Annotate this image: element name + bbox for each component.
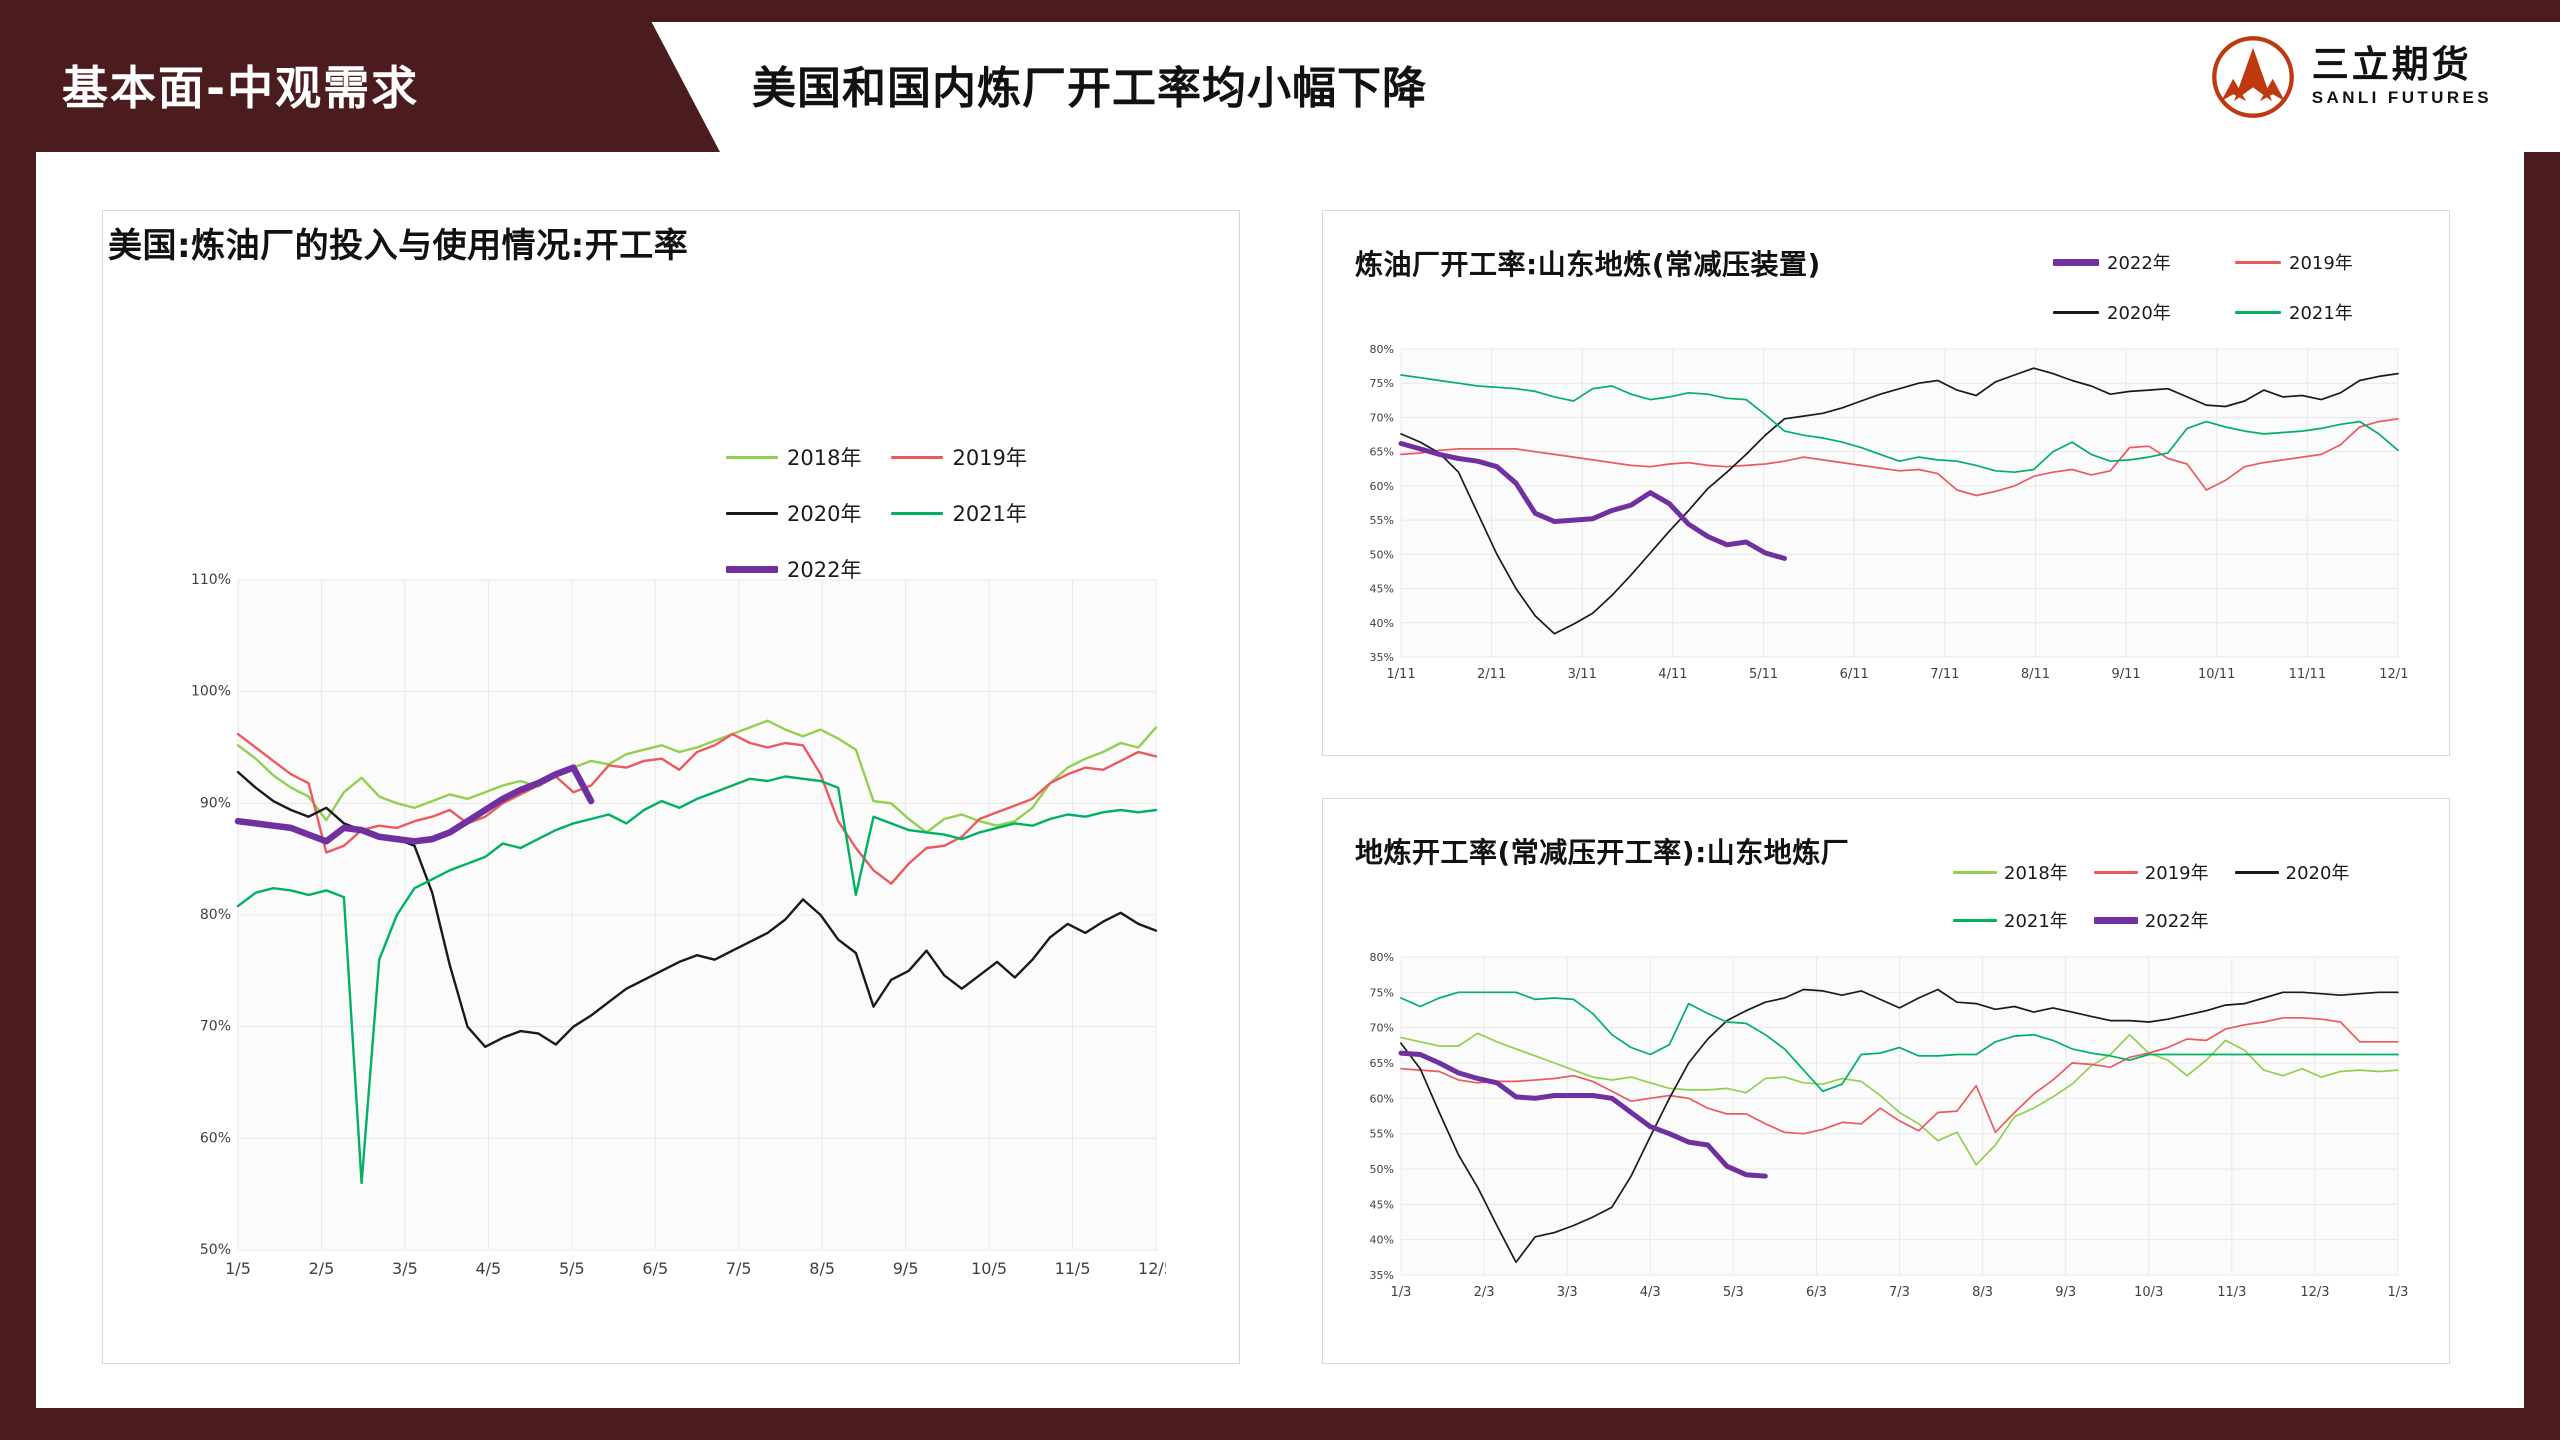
y-axis-tick-label: 45% (1370, 583, 1394, 596)
legend-item-2021年[interactable]: 2021年 (1953, 907, 2068, 933)
chart-svg-left: 50%60%70%80%90%100%110%1/52/53/54/55/56/… (176, 572, 1166, 1302)
y-axis-tick-label: 35% (1370, 651, 1394, 664)
y-axis-tick-label: 75% (1370, 986, 1394, 999)
x-axis-tick-label: 1/3 (2388, 1285, 2408, 1300)
y-axis-tick-label: 55% (1370, 1128, 1394, 1141)
x-axis-tick-label: 5/5 (559, 1259, 585, 1278)
chart-plot-bottom-right: 35%40%45%50%55%60%65%70%75%80%1/32/33/34… (1353, 949, 2408, 1319)
legend-swatch-icon (2053, 311, 2099, 314)
y-axis-tick-label: 50% (200, 1242, 231, 1258)
x-axis-tick-label: 11/3 (2217, 1285, 2246, 1300)
x-axis-tick-label: 4/3 (1640, 1285, 1661, 1300)
x-axis-tick-label: 5/3 (1723, 1285, 1744, 1300)
brand-name-cn: 三立期货 (2312, 46, 2492, 85)
legend-label: 2021年 (2289, 299, 2353, 325)
x-axis-tick-label: 12/3 (2300, 1285, 2329, 1300)
chart-legend-top-right: 2022年2019年2020年2021年 (2053, 249, 2423, 349)
x-axis-tick-label: 11/11 (2289, 667, 2326, 682)
chart-legend-bottom-right: 2018年2019年2020年2021年2022年 (1953, 859, 2433, 955)
section-tag: 基本面-中观需求 (62, 52, 419, 118)
y-axis-tick-label: 60% (200, 1130, 231, 1146)
chart-title-left: 美国:炼油厂的投入与使用情况:开工率 (108, 218, 688, 267)
x-axis-tick-label: 2/11 (1477, 667, 1506, 682)
legend-swatch-icon (726, 512, 778, 515)
legend-label: 2019年 (2289, 249, 2353, 275)
legend-label: 2020年 (2286, 859, 2350, 885)
legend-swatch-icon (1953, 871, 1997, 874)
x-axis-tick-label: 12/5 (1138, 1259, 1166, 1278)
legend-label: 2020年 (2107, 299, 2171, 325)
y-axis-tick-label: 80% (1370, 951, 1394, 964)
x-axis-tick-label: 8/3 (1972, 1285, 1993, 1300)
x-axis-tick-label: 10/3 (2134, 1285, 2163, 1300)
chart-plot-top-right: 35%40%45%50%55%60%65%70%75%80%1/112/113/… (1353, 341, 2408, 701)
x-axis-tick-label: 3/5 (392, 1259, 418, 1278)
x-axis-tick-label: 9/3 (2055, 1285, 2076, 1300)
x-axis-tick-label: 6/11 (1840, 667, 1869, 682)
legend-item-2022年[interactable]: 2022年 (2053, 249, 2235, 275)
y-axis-tick-label: 50% (1370, 1163, 1394, 1176)
legend-swatch-icon (2053, 259, 2099, 266)
legend-item-2020年[interactable]: 2020年 (726, 498, 861, 528)
legend-item-2021年[interactable]: 2021年 (2235, 299, 2417, 325)
x-axis-tick-label: 3/3 (1557, 1285, 1578, 1300)
x-axis-tick-label: 4/11 (1658, 667, 1687, 682)
x-axis-tick-label: 10/11 (2198, 667, 2235, 682)
x-axis-tick-label: 6/3 (1806, 1285, 1827, 1300)
y-axis-tick-label: 55% (1370, 514, 1394, 527)
legend-label: 2021年 (952, 498, 1026, 528)
legend-item-2022年[interactable]: 2022年 (2094, 907, 2209, 933)
chart-title-bottom-right: 地炼开工率(常减压开工率):山东地炼厂 (1355, 831, 1849, 871)
y-axis-tick-label: 70% (1370, 1022, 1394, 1035)
legend-item-2018年[interactable]: 2018年 (726, 442, 861, 472)
legend-swatch-icon (2235, 261, 2281, 264)
legend-item-2020年[interactable]: 2020年 (2053, 299, 2235, 325)
chart-panel-top-right: 炼油厂开工率:山东地炼(常减压装置) 2022年2019年2020年2021年 … (1322, 210, 2450, 756)
x-axis-tick-label: 8/11 (2021, 667, 2050, 682)
x-axis-tick-label: 12/11 (2379, 667, 2408, 682)
y-axis-tick-label: 65% (1370, 446, 1394, 459)
x-axis-tick-label: 2/3 (1474, 1285, 1495, 1300)
x-axis-tick-label: 6/5 (642, 1259, 668, 1278)
legend-label: 2019年 (952, 442, 1026, 472)
page-title: 美国和国内炼厂开工率均小幅下降 (752, 52, 1427, 116)
y-axis-tick-label: 50% (1370, 548, 1394, 561)
y-axis-tick-label: 75% (1370, 377, 1394, 390)
legend-item-2021年[interactable]: 2021年 (891, 498, 1026, 528)
chart-svg-bottom_right: 35%40%45%50%55%60%65%70%75%80%1/32/33/34… (1353, 949, 2408, 1319)
legend-label: 2021年 (2004, 907, 2068, 933)
x-axis-tick-label: 2/5 (309, 1259, 335, 1278)
x-axis-tick-label: 5/11 (1749, 667, 1778, 682)
x-axis-tick-label: 7/11 (1930, 667, 1959, 682)
legend-label: 2019年 (2145, 859, 2209, 885)
chart-panel-bottom-right: 地炼开工率(常减压开工率):山东地炼厂 2018年2019年2020年2021年… (1322, 798, 2450, 1364)
x-axis-tick-label: 1/5 (225, 1259, 251, 1278)
y-axis-tick-label: 40% (1370, 1234, 1394, 1247)
x-axis-tick-label: 8/5 (809, 1259, 835, 1278)
legend-label: 2022年 (2145, 907, 2209, 933)
legend-label: 2018年 (2004, 859, 2068, 885)
brand-name-en: SANLI FUTURES (2312, 88, 2492, 108)
y-axis-tick-label: 40% (1370, 617, 1394, 630)
legend-label: 2018年 (787, 442, 861, 472)
legend-item-2019年[interactable]: 2019年 (2094, 859, 2209, 885)
x-axis-tick-label: 9/5 (893, 1259, 919, 1278)
legend-swatch-icon (2094, 917, 2138, 924)
y-axis-tick-label: 70% (1370, 411, 1394, 424)
brand-text: 三立期货 SANLI FUTURES (2312, 46, 2492, 109)
brand-logo: 三立期货 SANLI FUTURES (2210, 34, 2492, 120)
y-axis-tick-label: 80% (200, 907, 231, 923)
legend-swatch-icon (891, 456, 943, 459)
y-axis-tick-label: 65% (1370, 1057, 1394, 1070)
chart-svg-top_right: 35%40%45%50%55%60%65%70%75%80%1/112/113/… (1353, 341, 2408, 701)
legend-swatch-icon (891, 512, 943, 515)
mountain-logo-icon (2210, 34, 2296, 120)
x-axis-tick-label: 10/5 (971, 1259, 1007, 1278)
x-axis-tick-label: 4/5 (475, 1259, 501, 1278)
x-axis-tick-label: 7/5 (726, 1259, 752, 1278)
legend-swatch-icon (2094, 871, 2138, 874)
y-axis-tick-label: 100% (191, 684, 231, 700)
y-axis-tick-label: 70% (200, 1019, 231, 1035)
legend-item-2020年[interactable]: 2020年 (2235, 859, 2350, 885)
y-axis-tick-label: 80% (1370, 343, 1394, 356)
y-axis-tick-label: 60% (1370, 1092, 1394, 1105)
y-axis-tick-label: 35% (1370, 1269, 1394, 1282)
slide-header: 基本面-中观需求 美国和国内炼厂开工率均小幅下降 三立期货 SANLI FUTU… (0, 0, 2560, 152)
legend-swatch-icon (726, 456, 778, 459)
slide-root: 基本面-中观需求 美国和国内炼厂开工率均小幅下降 三立期货 SANLI FUTU… (0, 0, 2560, 1440)
legend-label: 2022年 (2107, 249, 2171, 275)
x-axis-tick-label: 1/3 (1391, 1285, 1412, 1300)
slide-canvas: 美国:炼油厂的投入与使用情况:开工率 2018年2019年2020年2021年2… (36, 152, 2524, 1408)
x-axis-tick-label: 11/5 (1055, 1259, 1091, 1278)
y-axis-tick-label: 60% (1370, 480, 1394, 493)
legend-swatch-icon (2235, 871, 2279, 874)
legend-swatch-icon (2235, 311, 2281, 314)
x-axis-tick-label: 7/3 (1889, 1285, 1910, 1300)
legend-swatch-icon (1953, 919, 1997, 922)
legend-item-2019年[interactable]: 2019年 (891, 442, 1026, 472)
x-axis-tick-label: 9/11 (2111, 667, 2140, 682)
x-axis-tick-label: 3/11 (1568, 667, 1597, 682)
chart-plot-left: 50%60%70%80%90%100%110%1/52/53/54/55/56/… (176, 572, 1166, 1302)
chart-title-top-right: 炼油厂开工率:山东地炼(常减压装置) (1355, 243, 1821, 283)
legend-label: 2020年 (787, 498, 861, 528)
legend-item-2018年[interactable]: 2018年 (1953, 859, 2068, 885)
legend-item-2019年[interactable]: 2019年 (2235, 249, 2417, 275)
y-axis-tick-label: 90% (200, 795, 231, 811)
x-axis-tick-label: 1/11 (1386, 667, 1415, 682)
y-axis-tick-label: 45% (1370, 1198, 1394, 1211)
y-axis-tick-label: 110% (191, 572, 231, 588)
